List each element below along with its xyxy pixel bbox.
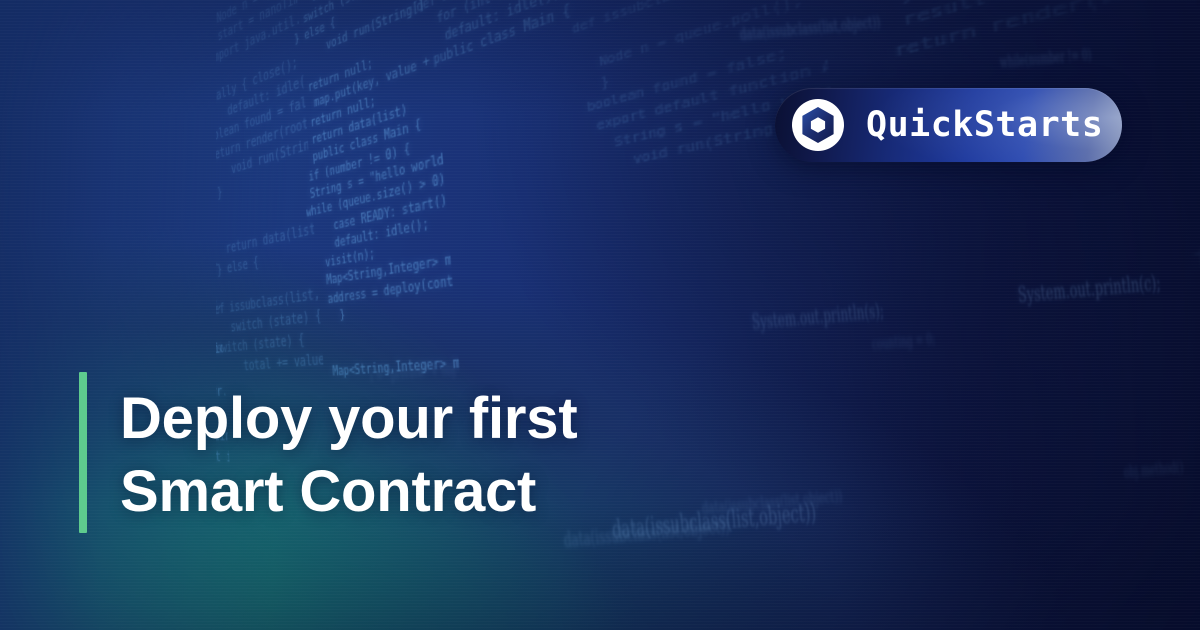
page-title-line-2: Smart Contract: [120, 455, 577, 528]
quickstarts-badge[interactable]: QuickStarts: [775, 88, 1122, 162]
quickstarts-badge-label: QuickStarts: [866, 105, 1103, 145]
accent-bar: [79, 372, 87, 533]
page-title-line-1: Deploy your first: [120, 382, 577, 455]
quickstarts-banner: finally { close(); } } map.put(key, valu…: [0, 0, 1200, 630]
chainlink-logo: [792, 99, 844, 151]
page-title: Deploy your first Smart Contract: [120, 382, 577, 528]
chainlink-hexagon-icon: [801, 106, 835, 144]
